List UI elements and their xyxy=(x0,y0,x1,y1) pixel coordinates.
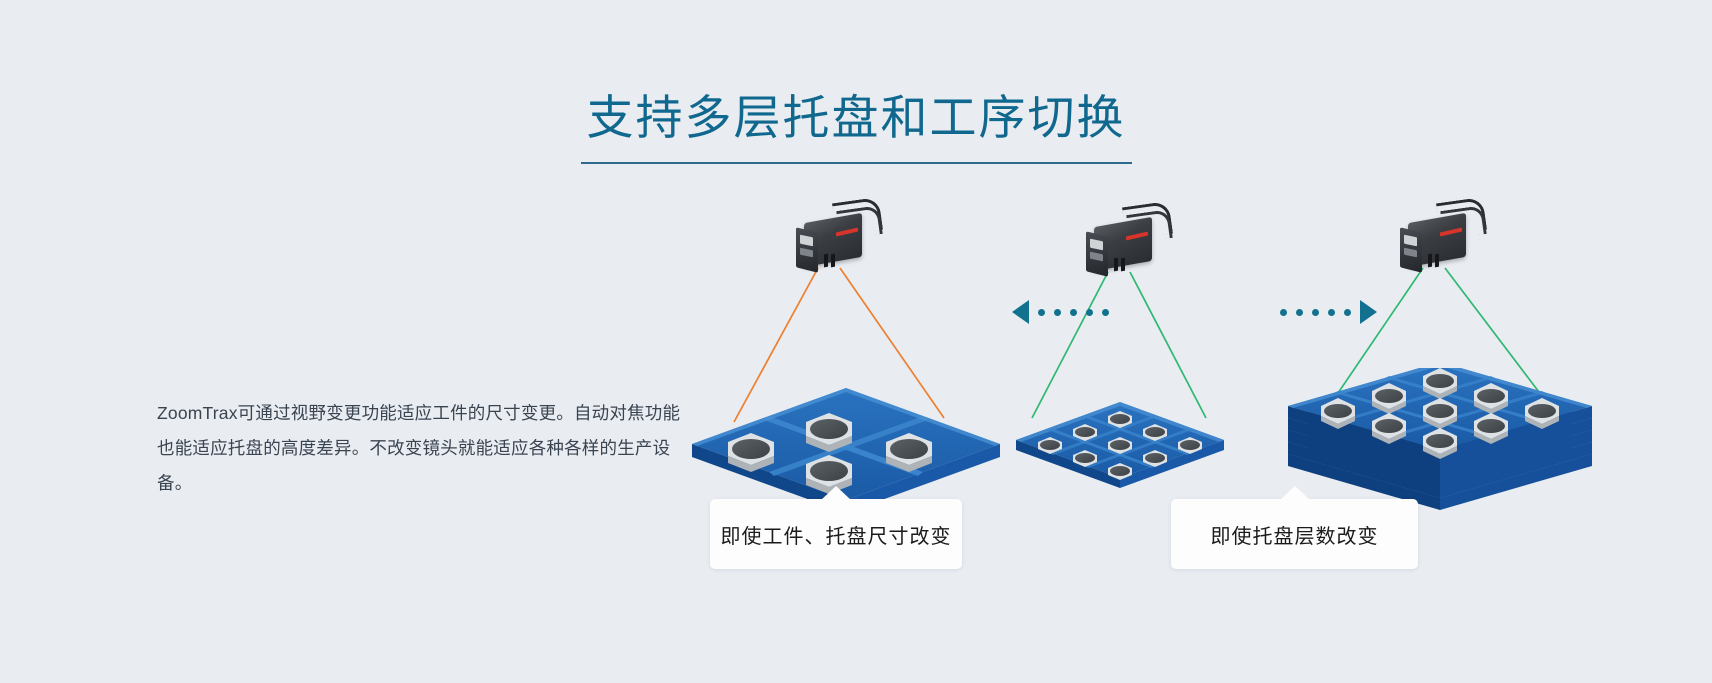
arrow-right-icon xyxy=(1360,300,1377,324)
arrow-dot xyxy=(1328,309,1335,316)
illustration-group-stacked-tray xyxy=(1250,190,1630,520)
sensor-vent-icon xyxy=(1121,258,1125,272)
sensor-vent-icon xyxy=(1428,254,1432,268)
illustration-group-small-tray xyxy=(990,200,1250,500)
arrow-dot xyxy=(1054,309,1061,316)
illustration-group-large-tray xyxy=(690,190,1020,520)
sensor-vent-icon xyxy=(824,254,828,268)
sensor-head-middle xyxy=(1084,208,1160,286)
arrow-left xyxy=(1012,300,1109,324)
caption-card-left: 即使工件、托盘尺寸改变 xyxy=(710,499,962,569)
arrow-right xyxy=(1280,300,1377,324)
arrow-dot xyxy=(1296,309,1303,316)
sensor-head-left xyxy=(794,204,870,282)
page-root: 支持多层托盘和工序切换 ZoomTrax可通过视野变更功能适应工件的尺寸变更。自… xyxy=(0,0,1712,683)
arrow-dot xyxy=(1344,309,1351,316)
caption-pointer-icon xyxy=(821,486,851,500)
arrow-dot xyxy=(1102,309,1109,316)
caption-card-right: 即使托盘层数改变 xyxy=(1171,499,1418,569)
sensor-head-right xyxy=(1398,204,1474,282)
tray-small-3x3 xyxy=(1010,396,1230,496)
page-title: 支持多层托盘和工序切换 xyxy=(581,89,1132,164)
sensor-vent-icon xyxy=(1435,254,1439,268)
caption-pointer-icon xyxy=(1280,486,1310,500)
arrow-dot xyxy=(1312,309,1319,316)
arrow-dot xyxy=(1070,309,1077,316)
arrow-dot xyxy=(1280,309,1287,316)
sensor-vent-icon xyxy=(1114,258,1118,272)
caption-left-label: 即使工件、托盘尺寸改变 xyxy=(721,520,952,549)
tray-stack-3x3-5layers xyxy=(1280,368,1600,520)
arrow-left-icon xyxy=(1012,300,1029,324)
caption-right-label: 即使托盘层数改变 xyxy=(1211,520,1379,549)
sensor-vent-icon xyxy=(831,254,835,268)
arrow-dot xyxy=(1086,309,1093,316)
description-paragraph: ZoomTrax可通过视野变更功能适应工件的尺寸变更。自动对焦功能也能适应托盘的… xyxy=(157,396,687,501)
page-title-wrap: 支持多层托盘和工序切换 xyxy=(0,58,1712,196)
arrow-dot xyxy=(1038,309,1045,316)
